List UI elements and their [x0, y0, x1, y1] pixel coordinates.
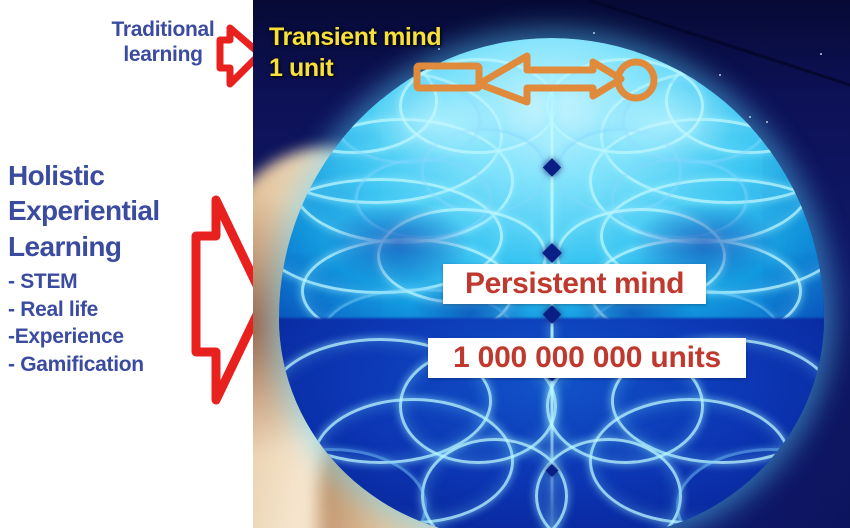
holistic-title-line1: Holistic — [8, 158, 240, 193]
orange-callout-annotation — [413, 48, 673, 128]
slide-canvas: Traditional learning Holistic Experienti… — [0, 0, 850, 528]
transient-mind-line2: 1 unit — [269, 53, 441, 84]
persistent-mind-label: Persistent mind — [443, 264, 706, 304]
persistent-mind-units-value: 1 000 000 000 units — [428, 338, 746, 378]
orange-arrow-icon — [479, 56, 621, 102]
photo-sparkle — [820, 53, 822, 55]
left-text-panel: Traditional learning Holistic Experienti… — [0, 0, 253, 528]
brain-photograph: Transient mind 1 unit Persistent mind 1 … — [253, 0, 850, 528]
transient-mind-label: Transient mind 1 unit — [269, 22, 441, 83]
transient-mind-line1: Transient mind — [269, 22, 441, 53]
